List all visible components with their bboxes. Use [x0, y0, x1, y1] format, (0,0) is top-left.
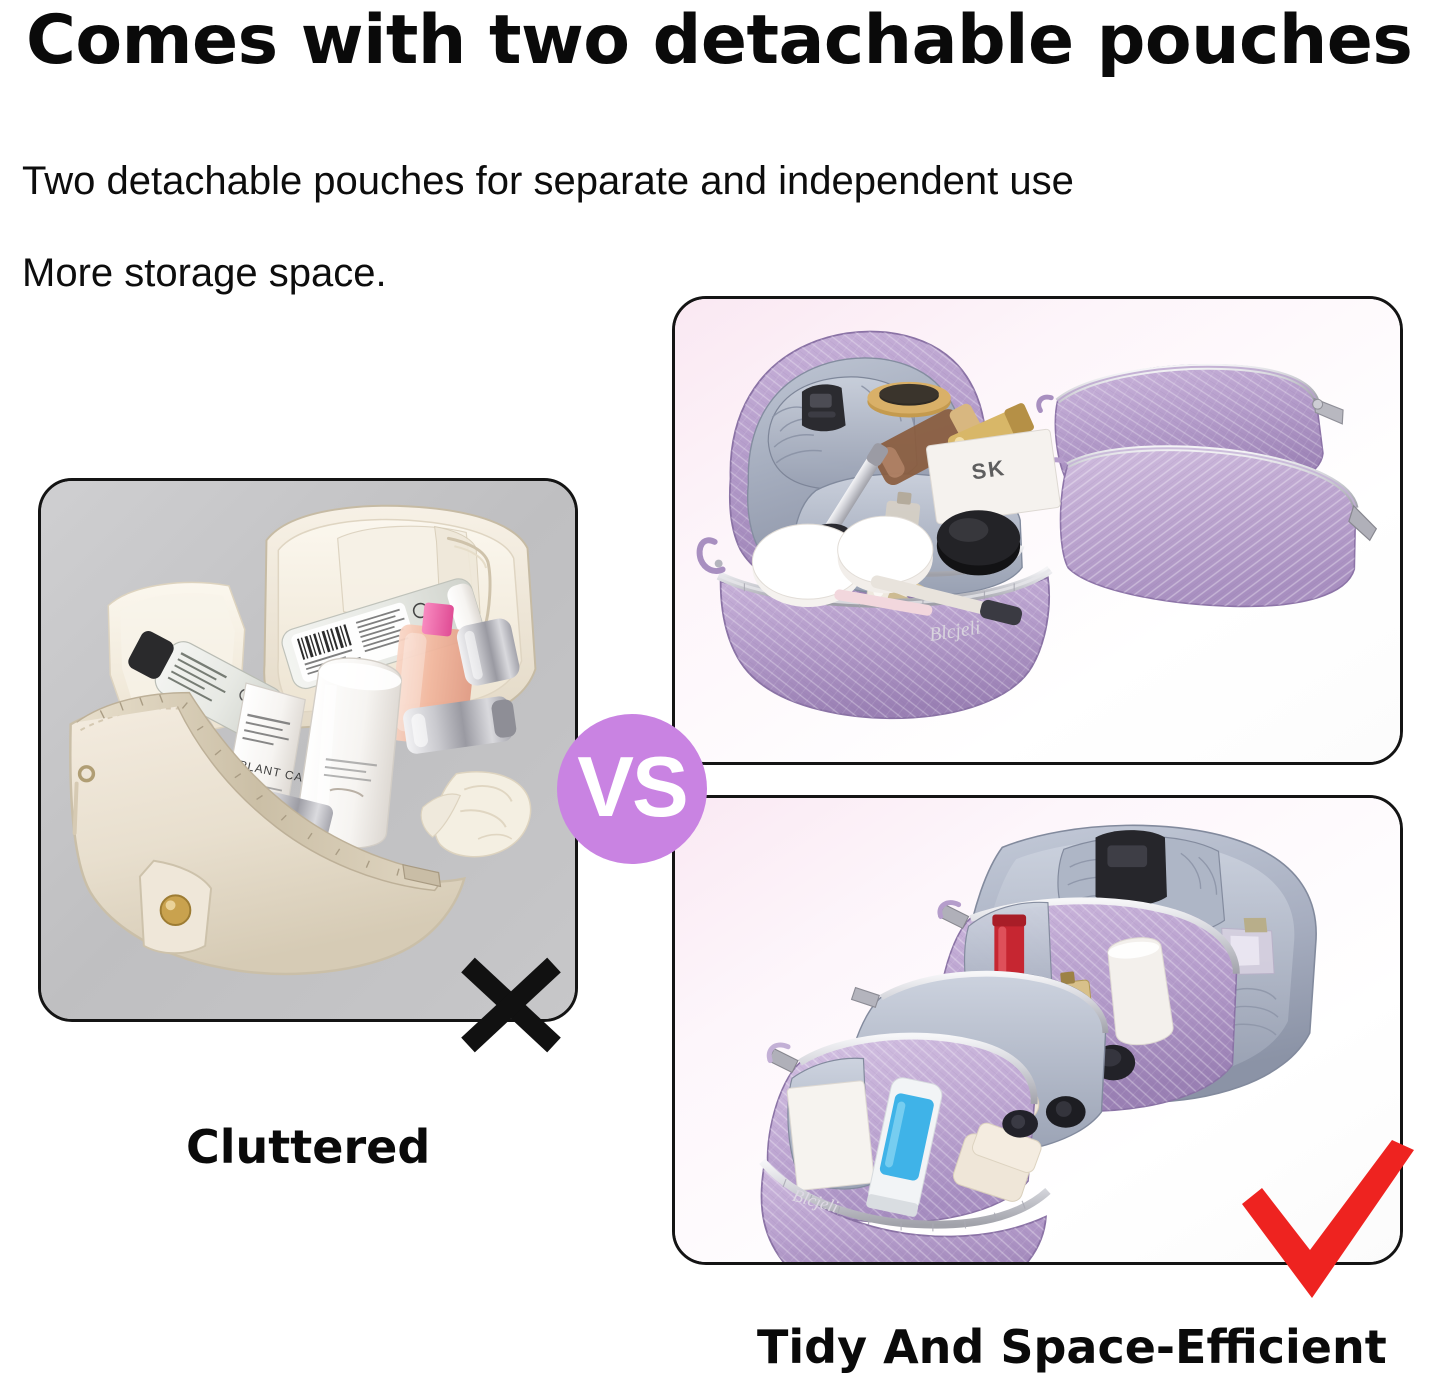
subtitle-line-2: More storage space. — [22, 250, 1402, 296]
check-mark-icon — [1232, 1138, 1417, 1323]
caption-tidy-space-efficient: Tidy And Space-Efficient — [757, 1320, 1387, 1374]
caption-cluttered: Cluttered — [186, 1120, 430, 1174]
page-title: Comes with two detachable pouches — [26, 2, 1426, 80]
cluttered-bag-illustration: PLANT CARE — [41, 481, 575, 1019]
subtitle-line-1: Two detachable pouches for separate and … — [22, 158, 1402, 204]
vs-label: VS — [577, 745, 686, 830]
svg-text:SK: SK — [970, 455, 1007, 484]
purple-bag-with-pouches-illustration: SK — [675, 299, 1400, 762]
product-comparison-infographic: Comes with two detachable pouches Two de… — [0, 0, 1445, 1391]
purple-bag-with-pouches-photo-panel: SK — [672, 296, 1403, 765]
vs-badge: VS — [557, 714, 707, 864]
x-mark-icon — [452, 945, 570, 1063]
cluttered-bag-photo-panel: PLANT CARE — [38, 478, 578, 1022]
